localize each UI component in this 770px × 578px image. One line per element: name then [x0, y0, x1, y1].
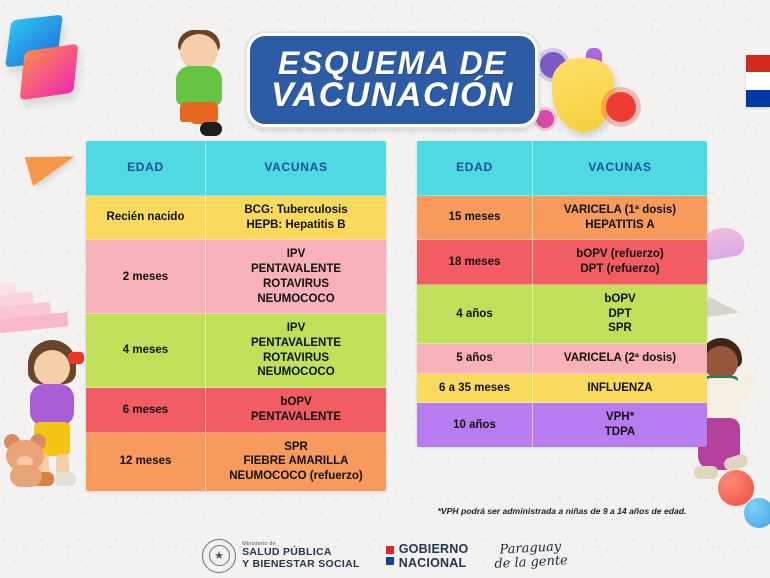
cell-age: 4 años: [417, 285, 533, 343]
cell-vaccines: VARICELA (1ª dosis)HEPATITIS A: [533, 196, 707, 239]
cell-vaccines: bOPVPENTAVALENTE: [206, 388, 386, 431]
cell-age: 15 meses: [417, 196, 533, 239]
cell-age: Recién nacido: [86, 196, 206, 239]
table-row: 10 añosVPH*TDPA: [417, 403, 707, 446]
vaccine-line: SPR: [604, 321, 635, 336]
vaccine-line: TDPA: [605, 425, 635, 440]
cell-vaccines: VPH*TDPA: [533, 403, 707, 446]
table-row: 6 a 35 mesesINFLUENZA: [417, 374, 707, 404]
flag-stripe-white: [746, 72, 770, 89]
table-row: 15 mesesVARICELA (1ª dosis)HEPATITIS A: [417, 196, 707, 240]
cell-age: 6 a 35 meses: [417, 374, 533, 403]
table-row: 5 añosVARICELA (2ª dosis): [417, 344, 707, 374]
column-header-age: EDAD: [417, 141, 533, 195]
column-header-age: EDAD: [86, 141, 206, 195]
boy-character-illustration-top: [166, 30, 232, 142]
vaccine-line: ROTAVIRUS: [251, 351, 341, 366]
flag-stripe-red: [746, 55, 770, 72]
teddy-bear-illustration: [2, 432, 50, 488]
column-header-vaccines: VACUNAS: [533, 141, 707, 195]
blue-ball-decoration: [744, 498, 770, 528]
paraguay-flag: [746, 55, 770, 107]
cell-age: 10 años: [417, 403, 533, 446]
table-row: 18 mesesbOPV (refuerzo)DPT (refuerzo): [417, 240, 707, 284]
table-row: Recién nacidoBCG: TuberculosisHEPB: Hepa…: [86, 196, 386, 240]
table-header-row: EDADVACUNAS: [86, 141, 386, 196]
footer: ★ Ministerio de SALUD PÚBLICA Y BIENESTA…: [0, 533, 770, 578]
government-logo: GOBIERNO NACIONAL: [386, 542, 469, 570]
page-title-banner: ESQUEMA DE VACUNACIÓN: [247, 33, 538, 127]
vaccine-line: INFLUENZA: [587, 381, 652, 396]
flag-stripe-blue: [746, 90, 770, 107]
cell-vaccines: IPVPENTAVALENTEROTAVIRUSNEUMOCOCO: [206, 314, 386, 387]
vaccine-line: PENTAVALENTE: [251, 410, 341, 425]
cell-age: 5 años: [417, 344, 533, 373]
vaccine-line: VARICELA (2ª dosis): [564, 351, 676, 366]
cell-age: 18 meses: [417, 240, 533, 283]
vaccine-line: IPV: [251, 321, 341, 336]
table-row: 12 mesesSPRFIEBRE AMARILLANEUMOCOCO (ref…: [86, 433, 386, 491]
vaccine-line: IPV: [251, 247, 341, 262]
national-seal-icon: ★: [202, 539, 236, 573]
slogan-line-2: de la gente: [494, 554, 568, 571]
vaccine-line: NEUMOCOCO: [251, 365, 341, 380]
red-virus-icon: [606, 92, 636, 122]
cell-vaccines: BCG: TuberculosisHEPB: Hepatitis B: [206, 196, 386, 239]
vaccine-line: SPR: [229, 440, 363, 455]
cell-vaccines: VARICELA (2ª dosis): [533, 344, 707, 373]
table-row: 2 mesesIPVPENTAVALENTEROTAVIRUSNEUMOCOCO: [86, 240, 386, 314]
vaccine-line: ROTAVIRUS: [251, 277, 341, 292]
magenta-virus-icon: [536, 110, 554, 128]
ministry-logo: ★ Ministerio de SALUD PÚBLICA Y BIENESTA…: [202, 539, 360, 573]
vaccination-table-left: EDADVACUNASRecién nacidoBCG: Tuberculosi…: [86, 141, 386, 491]
pink-stairs-decoration: [0, 276, 68, 333]
footnote-vph: *VPH podrá ser administrada a niñas de 9…: [417, 506, 707, 516]
vaccine-line: HEPATITIS A: [564, 218, 676, 233]
page-title-line-1: ESQUEMA DE: [278, 48, 507, 79]
vaccine-line: VARICELA (1ª dosis): [564, 203, 676, 218]
vaccine-line: NEUMOCOCO: [251, 292, 341, 307]
vaccine-line: DPT: [604, 307, 635, 322]
page-title-line-2: VACUNACIÓN: [271, 79, 514, 112]
vaccine-line: DPT (refuerzo): [576, 262, 664, 277]
paraguay-slogan: Paraguay de la gente: [494, 540, 569, 571]
ministry-line-2: Y BIENESTAR SOCIAL: [242, 559, 360, 571]
vaccine-line: HEPB: Hepatitis B: [244, 218, 347, 233]
cell-vaccines: SPRFIEBRE AMARILLANEUMOCOCO (refuerzo): [206, 433, 386, 491]
table-header-row: EDADVACUNAS: [417, 141, 707, 196]
vaccine-line: PENTAVALENTE: [251, 262, 341, 277]
pink-cube-decoration: [20, 44, 79, 101]
vaccine-line: PENTAVALENTE: [251, 336, 341, 351]
government-line-1: GOBIERNO: [399, 542, 469, 556]
vaccine-line: bOPV: [251, 395, 341, 410]
ministry-line-1: SALUD PÚBLICA: [242, 547, 360, 559]
vaccine-line: VPH*: [605, 410, 635, 425]
cell-vaccines: bOPVDPTSPR: [533, 285, 707, 343]
cell-vaccines: INFLUENZA: [533, 374, 707, 403]
table-row: 4 mesesIPVPENTAVALENTEROTAVIRUSNEUMOCOCO: [86, 314, 386, 388]
vaccine-line: NEUMOCOCO (refuerzo): [229, 469, 363, 484]
cell-vaccines: bOPV (refuerzo)DPT (refuerzo): [533, 240, 707, 283]
vaccine-line: BCG: Tuberculosis: [244, 203, 347, 218]
government-squares-icon: [386, 546, 394, 565]
government-line-2: NACIONAL: [399, 556, 469, 570]
vaccine-line: FIEBRE AMARILLA: [229, 454, 363, 469]
table-row: 4 añosbOPVDPTSPR: [417, 285, 707, 344]
cell-age: 6 meses: [86, 388, 206, 431]
cell-age: 12 meses: [86, 433, 206, 491]
cell-vaccines: IPVPENTAVALENTEROTAVIRUSNEUMOCOCO: [206, 240, 386, 313]
vaccine-line: bOPV: [604, 292, 635, 307]
vaccine-line: bOPV (refuerzo): [576, 247, 664, 262]
vaccination-table-right: EDADVACUNAS15 mesesVARICELA (1ª dosis)HE…: [417, 141, 707, 447]
column-header-vaccines: VACUNAS: [206, 141, 386, 195]
cell-age: 4 meses: [86, 314, 206, 387]
cell-age: 2 meses: [86, 240, 206, 313]
table-row: 6 mesesbOPVPENTAVALENTE: [86, 388, 386, 432]
